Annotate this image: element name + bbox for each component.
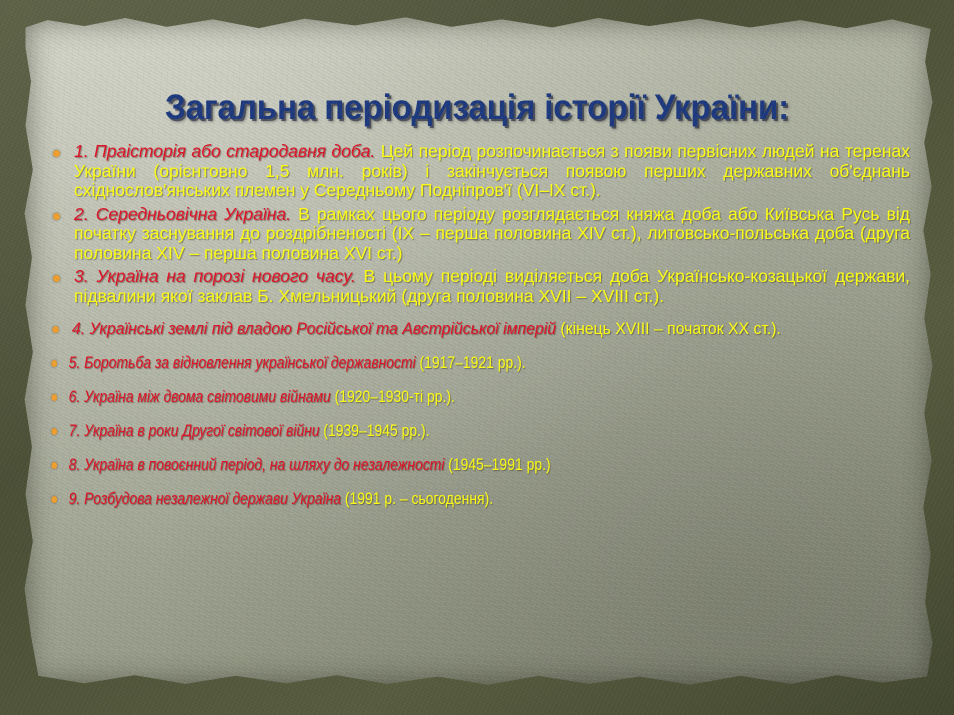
periodization-list: 1. Праісторія або стародавня доба. Цей п…	[44, 142, 910, 510]
list-item: 1. Праісторія або стародавня доба. Цей п…	[44, 142, 910, 201]
list-item: 6. Україна між двома світовими війнами (…	[44, 386, 935, 408]
item-lead-text: 4. Українські землі під владою Російсько…	[72, 319, 556, 338]
item-lead-text: 7. Україна в роки Другої світової війни	[69, 421, 320, 440]
item-body-text: (кінець XVIII – початок XX ст.).	[556, 319, 781, 338]
item-body-text: (1991 р. – сьогодення).	[341, 489, 493, 508]
item-lead-text: 5. Боротьба за відновлення української д…	[69, 353, 416, 372]
list-item: 5. Боротьба за відновлення української д…	[44, 352, 935, 374]
presentation-slide: Загальна періодизація історії України: 1…	[0, 0, 954, 715]
item-body-text: (1917–1921 рр.).	[416, 353, 526, 372]
item-body-text: (1945–1991 рр.)	[444, 455, 550, 474]
list-item: 4. Українські землі під владою Російсько…	[44, 318, 938, 340]
item-lead-text: 2. Середньовічна Україна.	[74, 204, 291, 224]
list-item: 8. Україна в повоєнний період, на шляху …	[44, 454, 935, 476]
item-lead-text: 9. Розбудова незалежної держави Україна	[69, 489, 341, 508]
item-lead-text: 6. Україна між двома світовими війнами	[69, 387, 331, 406]
page-title: Загальна періодизація історії України:	[24, 88, 930, 128]
item-lead-text: 1. Праісторія або стародавня доба.	[74, 141, 375, 161]
item-lead-text: 3. Україна на порозі нового часу.	[74, 266, 356, 286]
list-item: 2. Середньовічна Україна. В рамках цього…	[44, 205, 910, 264]
list-item: 3. Україна на порозі нового часу. В цьом…	[44, 267, 910, 306]
item-lead-text: 8. Україна в повоєнний період, на шляху …	[69, 455, 445, 474]
list-item: 9. Розбудова незалежної держави Україна …	[44, 488, 935, 510]
slide-content: Загальна періодизація історії України: 1…	[0, 0, 954, 715]
list-item: 7. Україна в роки Другої світової війни …	[44, 420, 935, 442]
item-body-text: (1939–1945 рр.).	[320, 421, 430, 440]
item-body-text: (1920–1930-ті рр.).	[331, 387, 455, 406]
